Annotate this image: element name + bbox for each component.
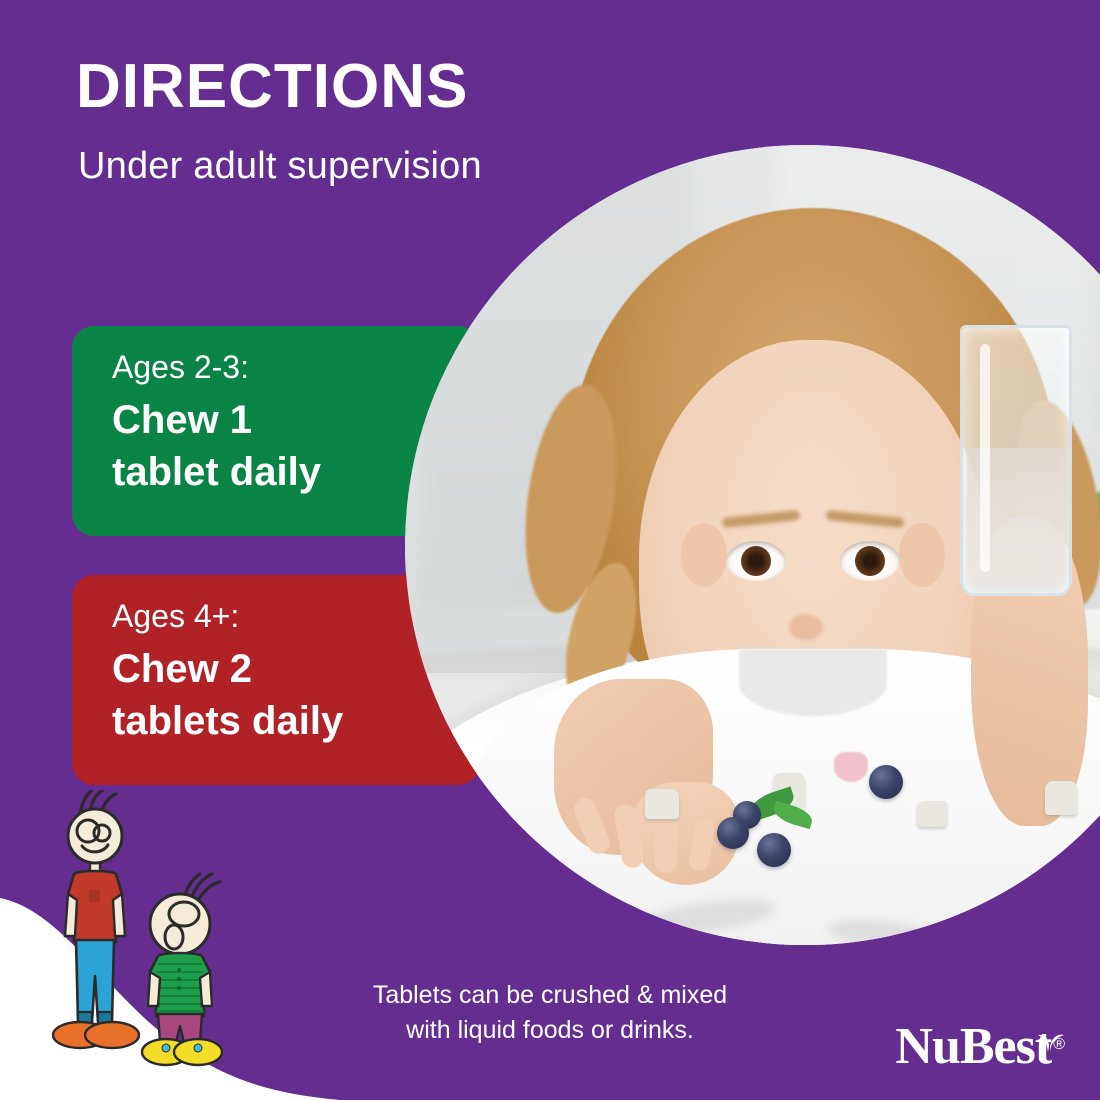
short-kid-mascot	[142, 874, 222, 1065]
animal-shaped-tablet	[645, 789, 679, 819]
girl-ear-right	[899, 523, 945, 587]
cartoon-kids-illustration	[32, 790, 262, 1090]
logo-text-nu: Nu	[895, 1017, 959, 1076]
footer-note: Tablets can be crushed & mixed with liqu…	[330, 978, 770, 1048]
child-photo-circle	[405, 145, 1100, 945]
badge-red-text: Ages 4+: Chew 2 tablets daily	[112, 597, 343, 747]
page-title: DIRECTIONS	[76, 54, 468, 119]
tall-kid-mascot	[53, 790, 139, 1048]
glass-highlight	[980, 344, 990, 572]
animal-shaped-tablet	[917, 801, 947, 827]
girl-figure	[549, 193, 1077, 929]
girl-nose	[789, 614, 823, 640]
girl-eyebrow-left	[722, 510, 801, 528]
girl-eye-left	[726, 541, 786, 581]
poster-canvas: Ages 2-3: Chew 1 tablet daily Ages 4+: C…	[0, 0, 1100, 1100]
girl-ear-left	[681, 523, 727, 587]
badge-green-age-label: Ages 2-3:	[112, 348, 321, 386]
blueberry	[869, 765, 903, 799]
girl-iris-left	[741, 546, 771, 576]
shirt-fold	[825, 916, 937, 945]
blueberry	[717, 817, 749, 849]
badge-red-dose-line-1: Chew 2	[112, 643, 343, 695]
shirt-fold	[636, 892, 779, 941]
blueberry	[757, 833, 791, 867]
photo-inner	[405, 145, 1100, 945]
badge-green-dose-line-2: tablet daily	[112, 446, 321, 498]
badge-green-text: Ages 2-3: Chew 1 tablet daily	[112, 348, 321, 498]
shirt-collar	[739, 649, 887, 715]
badge-green-dose-line-1: Chew 1	[112, 394, 321, 446]
badge-red-dose-line-2: tablets daily	[112, 695, 343, 747]
leaf-sprout-icon	[1032, 1028, 1066, 1054]
finger	[655, 811, 677, 873]
girl-eyebrow-right	[825, 510, 904, 528]
footer-note-line-1: Tablets can be crushed & mixed	[330, 978, 770, 1013]
girl-iris-right	[855, 546, 885, 576]
glass-of-water	[960, 325, 1072, 596]
footer-note-line-2: with liquid foods or drinks.	[330, 1013, 770, 1048]
girl-eye-right	[840, 541, 900, 581]
badge-red-age-label: Ages 4+:	[112, 597, 343, 635]
animal-shaped-tablet	[1045, 781, 1077, 815]
page-subtitle: Under adult supervision	[78, 144, 482, 190]
